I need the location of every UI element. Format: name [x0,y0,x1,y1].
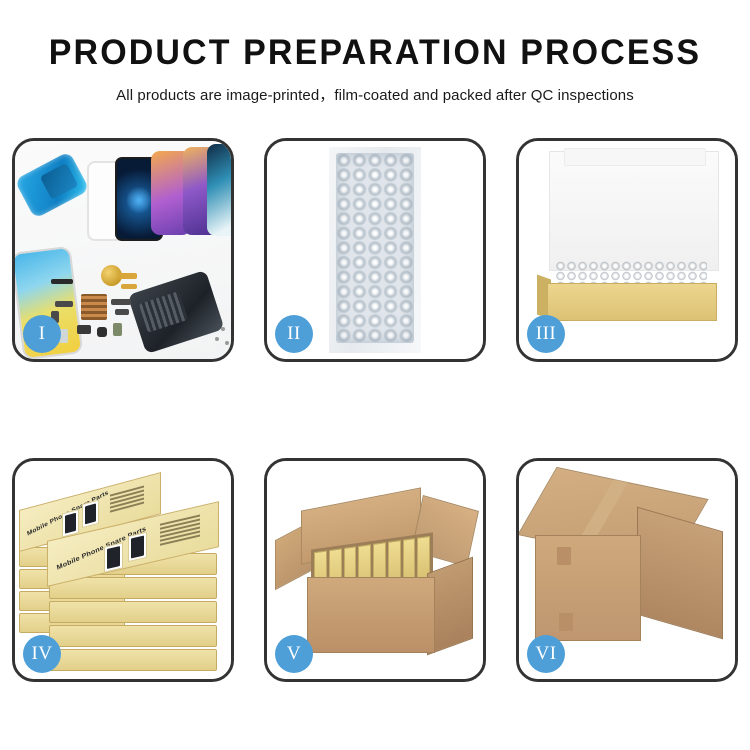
connector-icon-4 [115,309,129,315]
inner-box-front [547,283,717,321]
button-part-icon [97,327,107,337]
battery-part-icon [113,323,122,336]
box-edge-r4 [49,625,217,647]
header: PRODUCT PREPARATION PROCESS All products… [0,0,750,105]
step-card-5: V [264,458,486,682]
box-lid-flap [549,151,719,271]
step-badge-1: I [23,315,61,353]
box-edge-r3 [49,601,217,623]
step-card-1: I [12,138,234,362]
flex-cable-icon-2 [121,284,137,289]
gradient-phone-icon-3 [207,144,231,236]
step-card-6: VI [516,458,738,682]
box-spec-lines-rear [110,486,144,515]
step-badge-4: IV [23,635,61,673]
screw-icon-1 [221,327,225,331]
step-card-4: Mobile Phone Spare Parts Mobile Phone Sp… [12,458,234,682]
process-steps-grid: I II III [12,138,738,682]
step-card-3: III [516,138,738,362]
bubble-wrap-surface [336,153,414,343]
carton-tab-lower [559,613,573,631]
speaker-part-icon [51,279,73,284]
adhesive-frame-icon [15,151,90,219]
sealed-carton-front [535,535,641,641]
connector-icon-3 [111,299,131,305]
screw-icon-2 [215,337,219,341]
sealed-carton-side [637,507,723,640]
box-phone-image-front-1 [104,542,123,572]
step-badge-5: V [275,635,313,673]
step-badge-2: II [275,315,313,353]
step-badge-3: III [527,315,565,353]
box-edge-r5 [49,649,217,671]
flex-cable-icon-1 [119,273,137,279]
page-title: PRODUCT PREPARATION PROCESS [11,33,739,73]
copper-grid-chip-icon [81,294,107,320]
page-subtitle: All products are image-printed，film-coat… [0,84,750,105]
disassembled-chassis-icon [127,270,224,354]
screw-icon-3 [225,341,229,345]
camera-module-icon [77,325,91,334]
product-preparation-infographic: PRODUCT PREPARATION PROCESS All products… [0,0,750,750]
box-phone-image-front-2 [128,532,147,562]
carton-tab-upper [557,547,571,565]
step-badge-6: VI [527,635,565,673]
connector-icon-1 [55,301,73,307]
step-card-2: II [264,138,486,362]
bubble-wrapped-contents [555,261,707,285]
box-spec-lines-front [160,515,200,548]
carton-front-panel [307,577,435,653]
box-phone-image-rear-2 [82,500,99,529]
